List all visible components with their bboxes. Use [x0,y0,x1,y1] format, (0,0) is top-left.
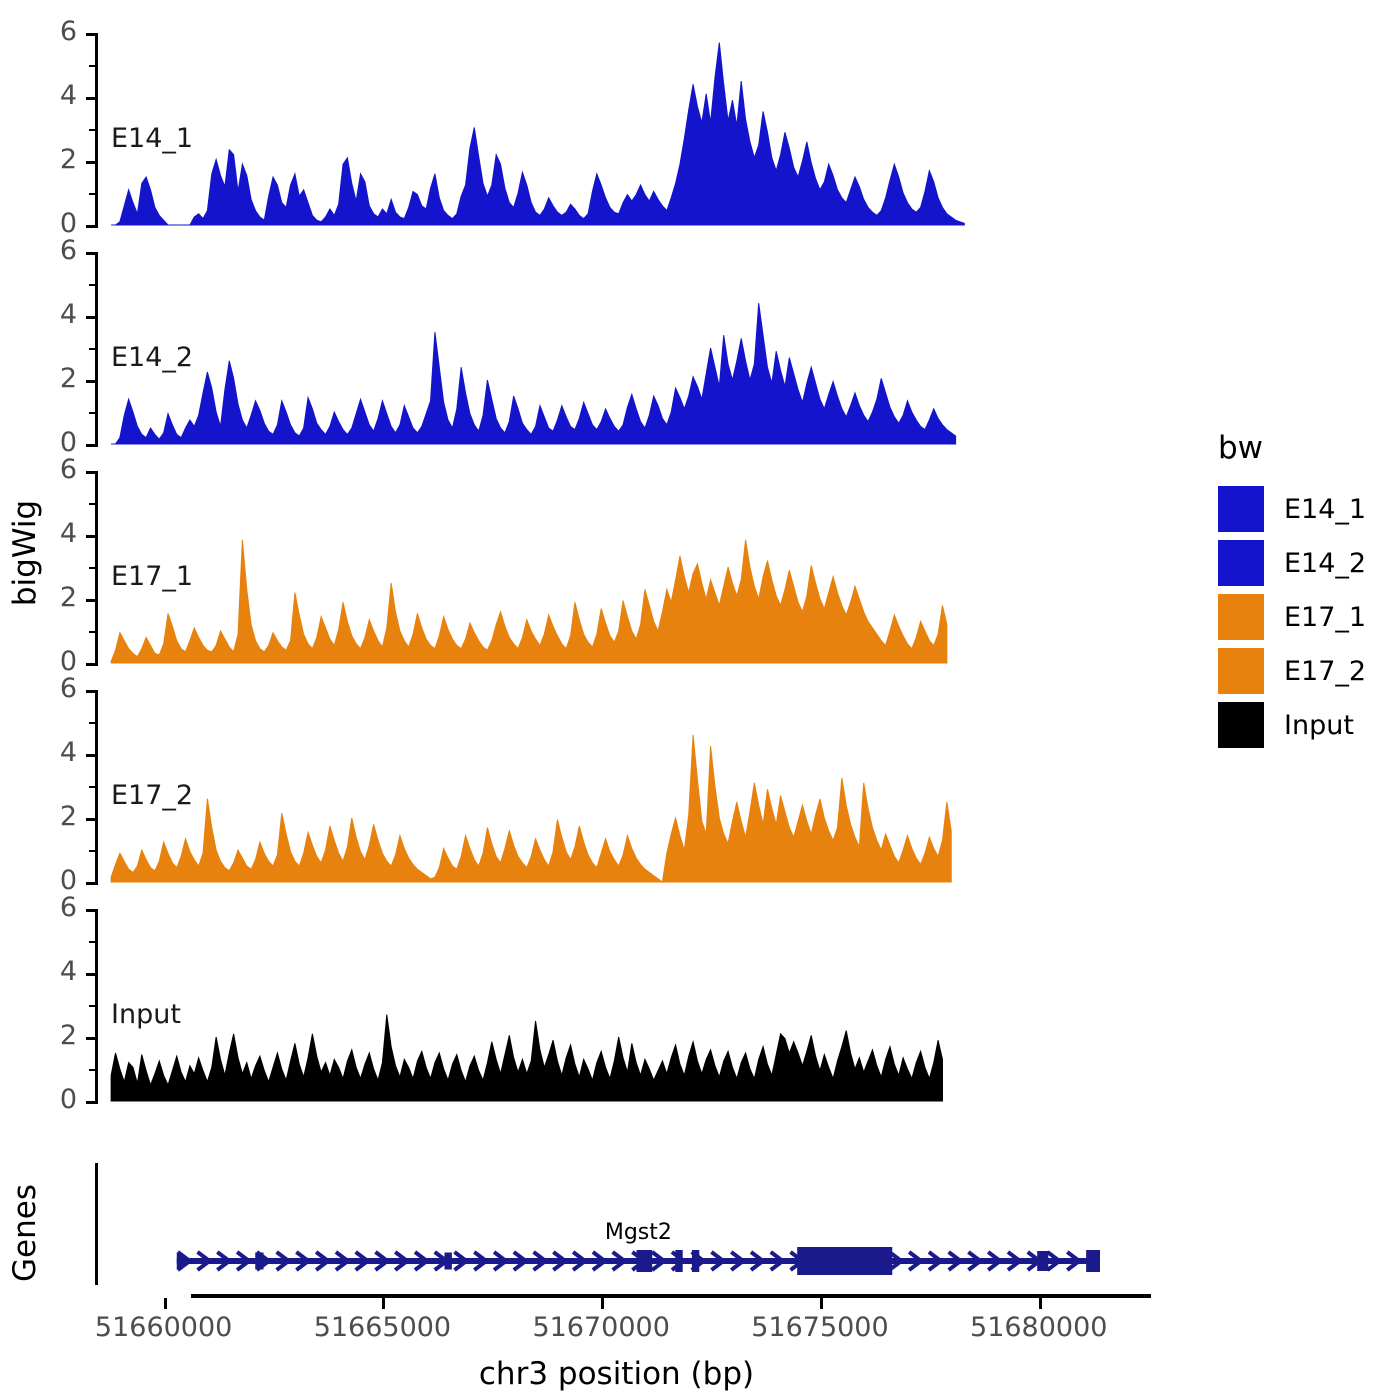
track-panel-e17_2: E17_2 [95,690,1135,882]
signal-area-input [95,909,1135,1103]
legend: bw E14_1E14_2E17_1E17_2Input [1210,430,1400,730]
y-tick-label: 0 [31,867,77,894]
legend-swatch-e17_1 [1218,594,1264,640]
y-tick-label: 6 [31,894,77,921]
y-tick-label: 4 [31,958,77,985]
legend-swatch-e17_2 [1218,648,1264,694]
legend-swatch-e14_1 [1218,486,1264,532]
y-tick-label: 4 [31,520,77,547]
legend-swatch-input [1218,702,1264,748]
x-tick-label: 51660000 [54,1312,274,1343]
y-tick-major [86,973,95,976]
legend-label-e17_1: E17_1 [1284,602,1366,633]
y-tick-major [86,663,95,666]
y-tick-major [86,909,95,912]
x-tick [164,1298,167,1309]
y-tick-major [86,33,95,36]
x-axis-title: chr3 position (bp) [98,1356,1135,1392]
y-tick-major [86,316,95,319]
x-tick-label: 51675000 [710,1312,930,1343]
y-tick-label: 2 [31,146,77,173]
y-tick-major [86,444,95,447]
y-tick-label: 2 [31,365,77,392]
y-tick-major [86,380,95,383]
y-tick-major [86,754,95,757]
signal-area-e14_1 [95,33,1135,227]
y-tick-major [86,1101,95,1104]
legend-label-input: Input [1284,710,1354,741]
x-tick [1039,1298,1042,1309]
y-tick-major [86,97,95,100]
track-panel-input: Input [95,909,1135,1101]
y-tick-major [86,882,95,885]
y-tick-label: 6 [31,675,77,702]
x-tick [382,1298,385,1309]
y-axis-title-bigwig: bigWig [7,453,43,653]
x-tick [601,1298,604,1309]
y-tick-label: 0 [31,210,77,237]
y-tick-label: 2 [31,803,77,830]
x-tick-label: 51665000 [272,1312,492,1343]
x-axis-line [191,1294,1151,1298]
legend-item-input[interactable]: Input [1218,702,1354,748]
x-tick-label: 51680000 [929,1312,1149,1343]
y-tick-major [86,535,95,538]
y-tick-label: 6 [31,456,77,483]
genome-browser-figure: bigWig Genes 0246E14_10246E14_20246E17_1… [0,0,1400,1400]
y-tick-label: 0 [31,1086,77,1113]
y-tick-label: 2 [31,1022,77,1049]
track-panel-e17_1: E17_1 [95,471,1135,663]
legend-item-e14_2[interactable]: E14_2 [1218,540,1366,586]
legend-title: bw [1218,430,1263,466]
legend-item-e17_2[interactable]: E17_2 [1218,648,1366,694]
y-tick-major [86,225,95,228]
y-tick-label: 4 [31,82,77,109]
legend-label-e14_2: E14_2 [1284,548,1366,579]
track-panel-e14_1: E14_1 [95,33,1135,225]
y-tick-label: 4 [31,301,77,328]
legend-item-e17_1[interactable]: E17_1 [1218,594,1366,640]
legend-swatch-e14_2 [1218,540,1264,586]
signal-area-e14_2 [95,252,1135,446]
y-tick-label: 4 [31,739,77,766]
y-tick-major [86,1037,95,1040]
y-tick-major [86,161,95,164]
y-tick-major [86,252,95,255]
genes-panel: Mgst2 [95,1163,1135,1285]
y-tick-major [86,818,95,821]
y-tick-major [86,690,95,693]
legend-label-e17_2: E17_2 [1284,656,1366,687]
y-tick-label: 0 [31,648,77,675]
legend-item-e14_1[interactable]: E14_1 [1218,486,1366,532]
y-tick-label: 2 [31,584,77,611]
y-tick-major [86,471,95,474]
track-panel-e14_2: E14_2 [95,252,1135,444]
y-tick-label: 6 [31,18,77,45]
signal-area-e17_2 [95,690,1135,884]
signal-area-e17_1 [95,471,1135,665]
y-tick-label: 0 [31,429,77,456]
y-tick-label: 6 [31,237,77,264]
x-tick [820,1298,823,1309]
y-tick-major [86,599,95,602]
legend-label-e14_1: E14_1 [1284,494,1366,525]
gene-model-mgst2[interactable] [95,1163,1135,1285]
y-axis-title-genes: Genes [7,1148,43,1318]
x-tick-label: 51670000 [491,1312,711,1343]
